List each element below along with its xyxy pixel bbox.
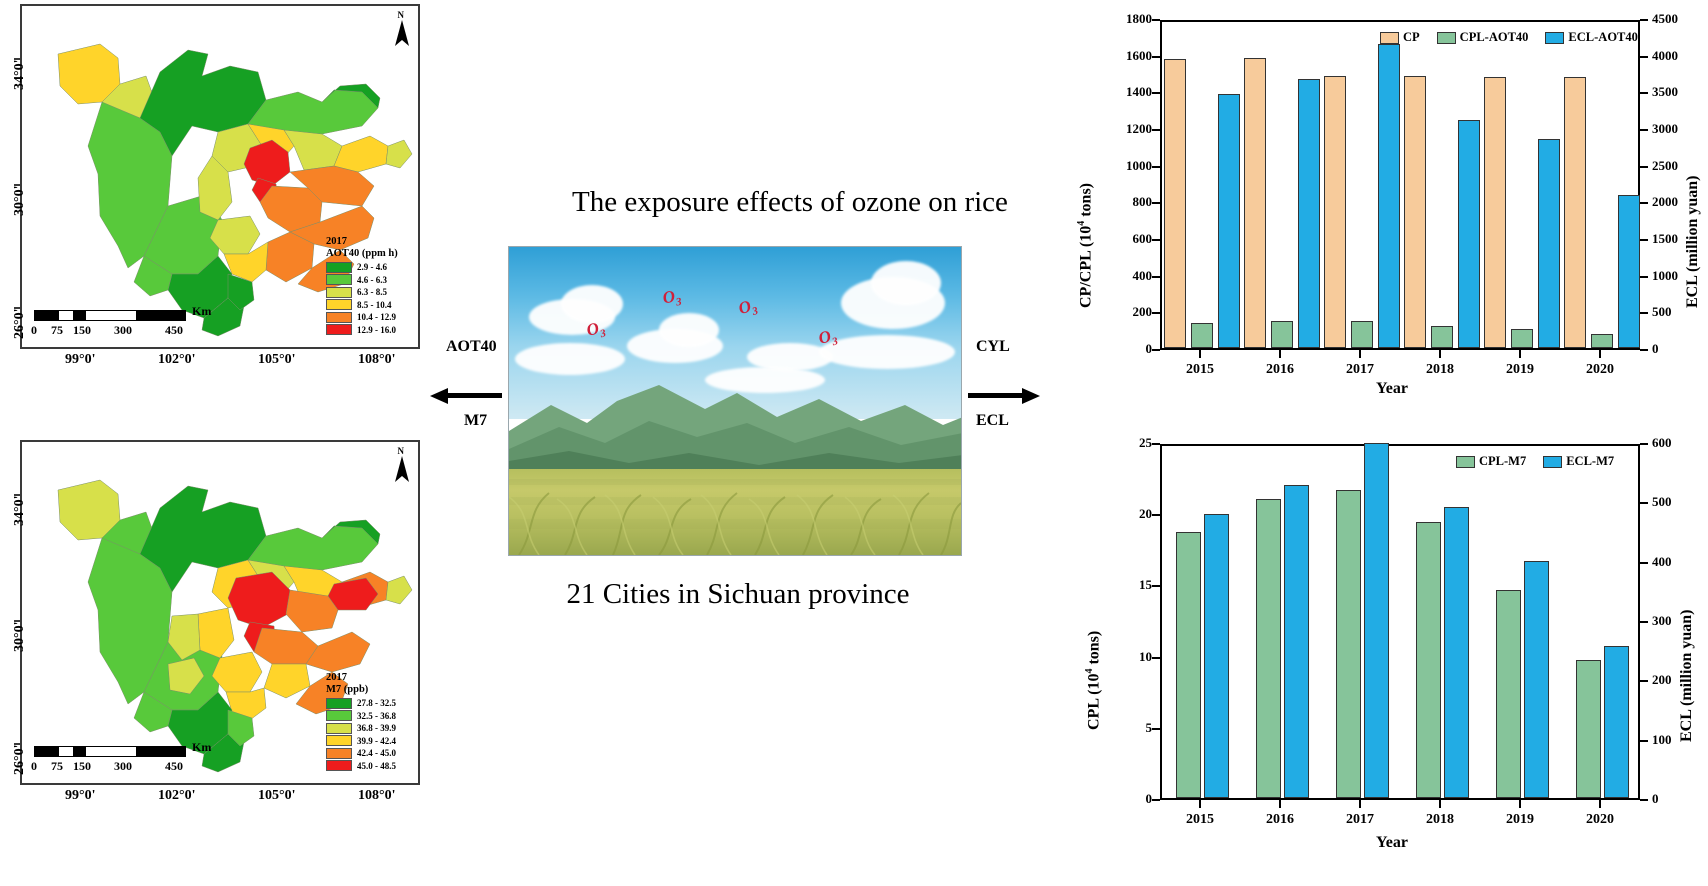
arrow-right-label-bottom: ECL bbox=[976, 412, 1009, 430]
y2-tick-label-3500: 3500 bbox=[1652, 84, 1678, 100]
bar-cp-2017 bbox=[1324, 76, 1346, 348]
x-tick bbox=[1279, 350, 1281, 358]
legend-swatch bbox=[326, 710, 352, 721]
y-tick-label-800: 800 bbox=[1094, 194, 1152, 210]
y-tick bbox=[1152, 657, 1160, 659]
y-tick bbox=[1152, 585, 1160, 587]
y2-tick bbox=[1640, 740, 1648, 742]
lat-label-26: 26°0' bbox=[12, 309, 28, 340]
bar-ecl-m7-2015 bbox=[1204, 514, 1229, 798]
legend-label-ecl-m7: ECL-M7 bbox=[1566, 454, 1614, 469]
legend-label: 10.4 - 12.9 bbox=[357, 312, 396, 322]
bar-cpl-m7-2016 bbox=[1256, 499, 1281, 798]
legend-item: 2.9 - 4.6 bbox=[326, 262, 398, 273]
bar-cpl-m7-2019 bbox=[1496, 590, 1521, 798]
north-arrow-icon bbox=[394, 456, 410, 482]
arrow-right-label-top: CYL bbox=[976, 338, 1010, 356]
bar-ecl-m7-2017 bbox=[1364, 443, 1389, 798]
legend-label: 32.5 - 36.8 bbox=[357, 711, 396, 721]
y2-tick bbox=[1640, 680, 1648, 682]
legend-item: 36.8 - 39.9 bbox=[326, 723, 396, 734]
y-tick bbox=[1152, 129, 1160, 131]
lon-label-99: 99°0' bbox=[65, 352, 96, 368]
x-tick-label-2016: 2016 bbox=[1248, 362, 1312, 378]
x-tick bbox=[1599, 800, 1601, 808]
rice-blades bbox=[509, 485, 961, 555]
legend-entry: CP bbox=[1380, 30, 1420, 45]
aot40-chart-legend: CP CPL-AOT40 ECL-AOT40 bbox=[1380, 30, 1650, 45]
x-tick-label-2015: 2015 bbox=[1168, 362, 1232, 378]
y2-tick-label-100: 100 bbox=[1652, 732, 1672, 748]
x-tick bbox=[1199, 350, 1201, 358]
y2-tick bbox=[1640, 349, 1648, 351]
y2-tick bbox=[1640, 799, 1648, 801]
legend-label: 36.8 - 39.9 bbox=[357, 723, 396, 733]
legend-entry: CPL-AOT40 bbox=[1437, 30, 1529, 45]
bar-cpl-aot40-2020 bbox=[1591, 334, 1613, 348]
lon-label-105: 105°0' bbox=[258, 788, 296, 804]
y-tick-label-200: 200 bbox=[1094, 304, 1152, 320]
legend-swatch bbox=[326, 287, 352, 298]
aot40-legend: 2017 AOT40 (ppm h) 2.9 - 4.6 4.6 - 6.3 6… bbox=[326, 236, 398, 335]
x-tick bbox=[1279, 800, 1281, 808]
y2-tick bbox=[1640, 621, 1648, 623]
legend-swatch bbox=[326, 735, 352, 746]
m7-plot-area bbox=[1160, 444, 1640, 800]
y2-tick bbox=[1640, 202, 1648, 204]
legend-label: 39.9 - 42.4 bbox=[357, 736, 396, 746]
legend-swatch bbox=[326, 312, 352, 323]
lat-label-26: 26°0' bbox=[12, 745, 28, 776]
legend-swatch bbox=[326, 748, 352, 759]
y2-tick bbox=[1640, 19, 1648, 21]
cloud bbox=[871, 261, 941, 305]
aot40-map-frame: N Km 0 75 150 300 450 2017 AOT40 (ppm h)… bbox=[20, 4, 420, 349]
legend-label: 45.0 - 48.5 bbox=[357, 761, 396, 771]
m7-y2-axis-title: ECL (million yuan) bbox=[1678, 610, 1696, 742]
x-tick bbox=[1439, 800, 1441, 808]
y2-tick-label-4000: 4000 bbox=[1652, 48, 1678, 64]
x-tick bbox=[1519, 800, 1521, 808]
arrow-left-head bbox=[430, 388, 448, 404]
scalebar bbox=[34, 746, 186, 757]
legend-item: 8.5 - 10.4 bbox=[326, 299, 398, 310]
lon-label-102: 102°0' bbox=[158, 788, 196, 804]
legend-label: 8.5 - 10.4 bbox=[357, 300, 392, 310]
y-tick-label-0: 0 bbox=[1094, 341, 1152, 357]
y-tick bbox=[1152, 202, 1160, 204]
y-tick-label-5: 5 bbox=[1094, 720, 1152, 736]
legend-swatch bbox=[326, 723, 352, 734]
aot40-y-axis-title: CP/CPL (104 tons) bbox=[1076, 183, 1095, 308]
page-caption: 21 Cities in Sichuan province bbox=[548, 578, 928, 611]
y2-tick-label-2000: 2000 bbox=[1652, 194, 1678, 210]
legend-swatch bbox=[326, 262, 352, 273]
legend-entry: ECL-M7 bbox=[1543, 454, 1614, 469]
north-label: N bbox=[398, 446, 405, 456]
x-tick bbox=[1359, 350, 1361, 358]
y2-tick-label-3000: 3000 bbox=[1652, 121, 1678, 137]
legend-item: 4.6 - 6.3 bbox=[326, 274, 398, 285]
legend-label: 27.8 - 32.5 bbox=[357, 698, 396, 708]
legend-swatch bbox=[326, 698, 352, 709]
y-tick-label-1000: 1000 bbox=[1094, 158, 1152, 174]
legend-swatch-ecl-m7 bbox=[1543, 456, 1562, 468]
m7-map-panel: N Km 0 75 150 300 450 2017 M7 (ppb) 27.8… bbox=[20, 440, 430, 790]
y-tick-label-1600: 1600 bbox=[1094, 48, 1152, 64]
lon-label-105: 105°0' bbox=[258, 352, 296, 368]
o3-label: O3 bbox=[661, 286, 682, 311]
y2-tick-label-0: 0 bbox=[1652, 791, 1659, 807]
cloud bbox=[659, 313, 719, 347]
y-tick bbox=[1152, 276, 1160, 278]
lon-label-102: 102°0' bbox=[158, 352, 196, 368]
arrow-left-label-top: AOT40 bbox=[446, 338, 497, 356]
bar-cpl-aot40-2017 bbox=[1351, 321, 1373, 349]
m7-y-axis-title: CPL (104 tons) bbox=[1084, 631, 1103, 730]
scalebar-tick-0: 0 bbox=[31, 323, 37, 338]
m7-map-frame: N Km 0 75 150 300 450 2017 M7 (ppb) 27.8… bbox=[20, 440, 420, 785]
legend-label: 2.9 - 4.6 bbox=[357, 262, 387, 272]
y-tick bbox=[1152, 514, 1160, 516]
legend-item: 6.3 - 8.5 bbox=[326, 287, 398, 298]
legend-swatch-cpl-m7 bbox=[1456, 456, 1475, 468]
legend-item: 27.8 - 32.5 bbox=[326, 698, 396, 709]
x-tick-label-2018: 2018 bbox=[1408, 362, 1472, 378]
y2-tick bbox=[1640, 56, 1648, 58]
legend-label-cpl-m7: CPL-M7 bbox=[1479, 454, 1526, 469]
y2-tick bbox=[1640, 312, 1648, 314]
lat-label-34: 34°0' bbox=[12, 60, 28, 91]
y2-tick-label-200: 200 bbox=[1652, 672, 1672, 688]
legend-item: 42.4 - 45.0 bbox=[326, 748, 396, 759]
legend-item: 39.9 - 42.4 bbox=[326, 735, 396, 746]
legend-swatch-ecl-aot40 bbox=[1545, 32, 1564, 44]
y-tick bbox=[1152, 166, 1160, 168]
legend-entry: CPL-M7 bbox=[1456, 454, 1526, 469]
legend-item: 45.0 - 48.5 bbox=[326, 760, 396, 771]
bar-cp-2020 bbox=[1564, 77, 1586, 348]
y2-tick-label-4500: 4500 bbox=[1652, 11, 1678, 27]
m7-x-axis-title: Year bbox=[1376, 834, 1408, 852]
y-tick bbox=[1152, 19, 1160, 21]
y2-tick bbox=[1640, 562, 1648, 564]
y-tick-label-1800: 1800 bbox=[1094, 11, 1152, 27]
scalebar-tick-3: 300 bbox=[114, 759, 132, 774]
y2-tick bbox=[1640, 92, 1648, 94]
bar-cp-2015 bbox=[1164, 59, 1186, 348]
legend-label: 6.3 - 8.5 bbox=[357, 287, 387, 297]
scalebar-unit: Km bbox=[192, 740, 211, 755]
bar-cpl-m7-2017 bbox=[1336, 490, 1361, 798]
scalebar-tick-3: 300 bbox=[114, 323, 132, 338]
lat-label-30: 30°0' bbox=[12, 186, 28, 217]
bar-cpl-m7-2018 bbox=[1416, 522, 1441, 798]
aot40-map-panel: N Km 0 75 150 300 450 2017 AOT40 (ppm h)… bbox=[20, 4, 430, 354]
cloud bbox=[819, 335, 955, 369]
scalebar-tick-4: 450 bbox=[165, 759, 183, 774]
y2-tick bbox=[1640, 239, 1648, 241]
legend-swatch bbox=[326, 299, 352, 310]
x-tick bbox=[1439, 350, 1441, 358]
arrow-right bbox=[968, 388, 1040, 402]
x-tick bbox=[1519, 350, 1521, 358]
x-tick bbox=[1359, 800, 1361, 808]
x-tick-label-2017: 2017 bbox=[1328, 812, 1392, 828]
legend-label-cp: CP bbox=[1403, 30, 1420, 45]
y2-tick bbox=[1640, 276, 1648, 278]
y-tick-label-1200: 1200 bbox=[1094, 121, 1152, 137]
x-tick bbox=[1199, 800, 1201, 808]
lon-label-108: 108°0' bbox=[358, 788, 396, 804]
y2-tick-label-1500: 1500 bbox=[1652, 231, 1678, 247]
scalebar-tick-2: 150 bbox=[73, 759, 91, 774]
bar-ecl-m7-2019 bbox=[1524, 561, 1549, 798]
legend-title: AOT40 (ppm h) bbox=[326, 248, 398, 260]
scalebar-tick-1: 75 bbox=[51, 759, 63, 774]
scalebar-tick-4: 450 bbox=[165, 323, 183, 338]
x-tick-label-2018: 2018 bbox=[1408, 812, 1472, 828]
bar-cp-2016 bbox=[1244, 58, 1266, 348]
x-tick-label-2020: 2020 bbox=[1568, 812, 1632, 828]
y2-tick bbox=[1640, 502, 1648, 504]
rice-field-photo: O3 O3 O3 O3 bbox=[508, 246, 962, 556]
lat-label-30: 30°0' bbox=[12, 622, 28, 653]
scalebar-unit: Km bbox=[192, 304, 211, 319]
bar-ecl-aot40-2018 bbox=[1458, 120, 1480, 348]
mountain-range bbox=[509, 365, 961, 477]
x-tick-label-2019: 2019 bbox=[1488, 812, 1552, 828]
bar-cpl-m7-2015 bbox=[1176, 532, 1201, 798]
y-tick bbox=[1152, 443, 1160, 445]
y2-tick-label-1000: 1000 bbox=[1652, 268, 1678, 284]
bar-cp-2018 bbox=[1404, 76, 1426, 348]
page-title: The exposure effects of ozone on rice bbox=[560, 186, 1020, 219]
bar-cpl-aot40-2018 bbox=[1431, 326, 1453, 348]
y2-tick-label-2500: 2500 bbox=[1652, 158, 1678, 174]
y-tick bbox=[1152, 799, 1160, 801]
x-tick-label-2016: 2016 bbox=[1248, 812, 1312, 828]
bar-ecl-aot40-2016 bbox=[1298, 79, 1320, 348]
y-tick-label-25: 25 bbox=[1094, 435, 1152, 451]
x-tick-label-2020: 2020 bbox=[1568, 362, 1632, 378]
arrow-left-shaft bbox=[444, 393, 502, 398]
y-tick-label-10: 10 bbox=[1094, 649, 1152, 665]
aot40-chart: CP/CPL (104 tons) ECL (million yuan) Yea… bbox=[1050, 8, 1700, 398]
lon-label-99: 99°0' bbox=[65, 788, 96, 804]
x-tick-label-2019: 2019 bbox=[1488, 362, 1552, 378]
bar-ecl-aot40-2015 bbox=[1218, 94, 1240, 348]
bar-ecl-m7-2020 bbox=[1604, 646, 1629, 798]
cloud bbox=[561, 285, 623, 323]
arrow-right-head bbox=[1022, 388, 1040, 404]
scalebar-tick-0: 0 bbox=[31, 759, 37, 774]
bar-ecl-m7-2016 bbox=[1284, 485, 1309, 798]
lon-label-108: 108°0' bbox=[358, 352, 396, 368]
arrow-left bbox=[430, 388, 502, 402]
aot40-plot-area bbox=[1160, 20, 1640, 350]
m7-chart-legend: CPL-M7 ECL-M7 bbox=[1456, 454, 1626, 469]
y-tick-label-1400: 1400 bbox=[1094, 84, 1152, 100]
legend-title: M7 (ppb) bbox=[326, 684, 396, 696]
north-arrow-icon bbox=[394, 20, 410, 46]
y-tick-label-400: 400 bbox=[1094, 268, 1152, 284]
legend-label: 12.9 - 16.0 bbox=[357, 325, 396, 335]
bar-ecl-m7-2018 bbox=[1444, 507, 1469, 798]
y2-tick-label-500: 500 bbox=[1652, 304, 1672, 320]
y-tick bbox=[1152, 56, 1160, 58]
legend-label: 4.6 - 6.3 bbox=[357, 275, 387, 285]
bar-cpl-aot40-2015 bbox=[1191, 323, 1213, 348]
legend-entry: ECL-AOT40 bbox=[1545, 30, 1637, 45]
legend-label-ecl-aot40: ECL-AOT40 bbox=[1568, 30, 1637, 45]
y-tick-label-0: 0 bbox=[1094, 791, 1152, 807]
y-tick bbox=[1152, 728, 1160, 730]
legend-swatch bbox=[326, 274, 352, 285]
bar-cp-2019 bbox=[1484, 77, 1506, 348]
legend-swatch bbox=[326, 760, 352, 771]
legend-swatch bbox=[326, 324, 352, 335]
scalebar bbox=[34, 310, 186, 321]
x-tick-label-2017: 2017 bbox=[1328, 362, 1392, 378]
y2-tick bbox=[1640, 443, 1648, 445]
arrow-right-shaft bbox=[968, 393, 1026, 398]
m7-legend: 2017 M7 (ppb) 27.8 - 32.5 32.5 - 36.8 36… bbox=[326, 672, 396, 771]
y2-tick-label-400: 400 bbox=[1652, 554, 1672, 570]
bar-cpl-m7-2020 bbox=[1576, 660, 1601, 798]
bar-cpl-aot40-2019 bbox=[1511, 329, 1533, 348]
legend-swatch-cpl-aot40 bbox=[1437, 32, 1456, 44]
north-label: N bbox=[398, 10, 405, 20]
y2-tick bbox=[1640, 166, 1648, 168]
legend-year: 2017 bbox=[326, 672, 396, 684]
y2-tick-label-0: 0 bbox=[1652, 341, 1659, 357]
y2-tick-label-600: 600 bbox=[1652, 435, 1672, 451]
y-tick bbox=[1152, 349, 1160, 351]
arrow-left-label-bottom: M7 bbox=[464, 412, 487, 430]
aot40-y2-axis-title: ECL (million yuan) bbox=[1684, 176, 1702, 308]
y-tick bbox=[1152, 312, 1160, 314]
legend-label-cpl-aot40: CPL-AOT40 bbox=[1460, 30, 1529, 45]
y-tick-label-600: 600 bbox=[1094, 231, 1152, 247]
bar-ecl-aot40-2019 bbox=[1538, 139, 1560, 349]
y-tick bbox=[1152, 239, 1160, 241]
y-tick-label-15: 15 bbox=[1094, 577, 1152, 593]
y-tick bbox=[1152, 92, 1160, 94]
legend-item: 32.5 - 36.8 bbox=[326, 710, 396, 721]
lat-label-34: 34°0' bbox=[12, 496, 28, 527]
legend-swatch-cp bbox=[1380, 32, 1399, 44]
y2-tick-label-300: 300 bbox=[1652, 613, 1672, 629]
x-tick bbox=[1599, 350, 1601, 358]
bar-cpl-aot40-2016 bbox=[1271, 321, 1293, 348]
x-tick-label-2015: 2015 bbox=[1168, 812, 1232, 828]
y-tick-label-20: 20 bbox=[1094, 506, 1152, 522]
bar-ecl-aot40-2017 bbox=[1378, 44, 1400, 348]
legend-year: 2017 bbox=[326, 236, 398, 248]
scalebar-tick-1: 75 bbox=[51, 323, 63, 338]
m7-chart: CPL (104 tons) ECL (million yuan) Year C… bbox=[1050, 430, 1700, 880]
legend-item: 12.9 - 16.0 bbox=[326, 324, 398, 335]
aot40-x-axis-title: Year bbox=[1376, 380, 1408, 398]
legend-item: 10.4 - 12.9 bbox=[326, 312, 398, 323]
y2-tick-label-500: 500 bbox=[1652, 494, 1672, 510]
scalebar-tick-2: 150 bbox=[73, 323, 91, 338]
legend-label: 42.4 - 45.0 bbox=[357, 748, 396, 758]
bar-ecl-aot40-2020 bbox=[1618, 195, 1640, 348]
y2-tick bbox=[1640, 129, 1648, 131]
